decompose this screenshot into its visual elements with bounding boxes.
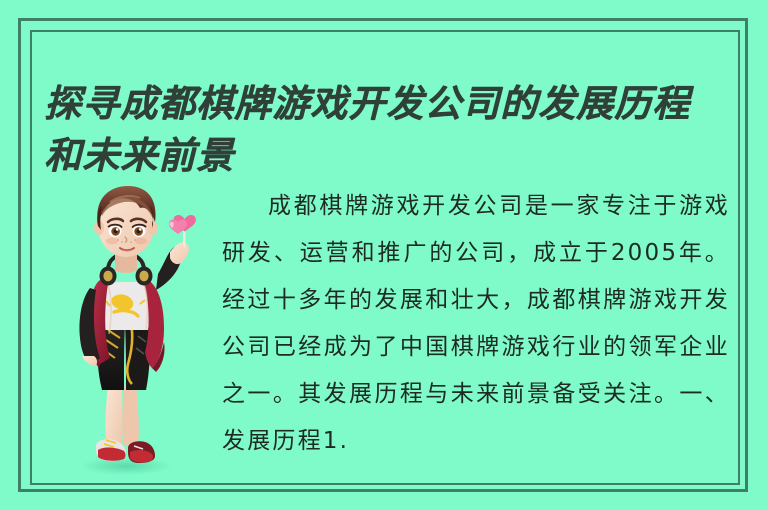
page-title: 探寻成都棋牌游戏开发公司的发展历程 和未来前景 xyxy=(44,77,744,181)
chibi-boy-character-illustration xyxy=(52,178,212,478)
article-body: 成都棋牌游戏开发公司是一家专注于游戏研发、运营和推广的公司，成立于2005年。经… xyxy=(222,183,730,465)
article-card: 探寻成都棋牌游戏开发公司的发展历程 和未来前景 xyxy=(0,0,768,510)
